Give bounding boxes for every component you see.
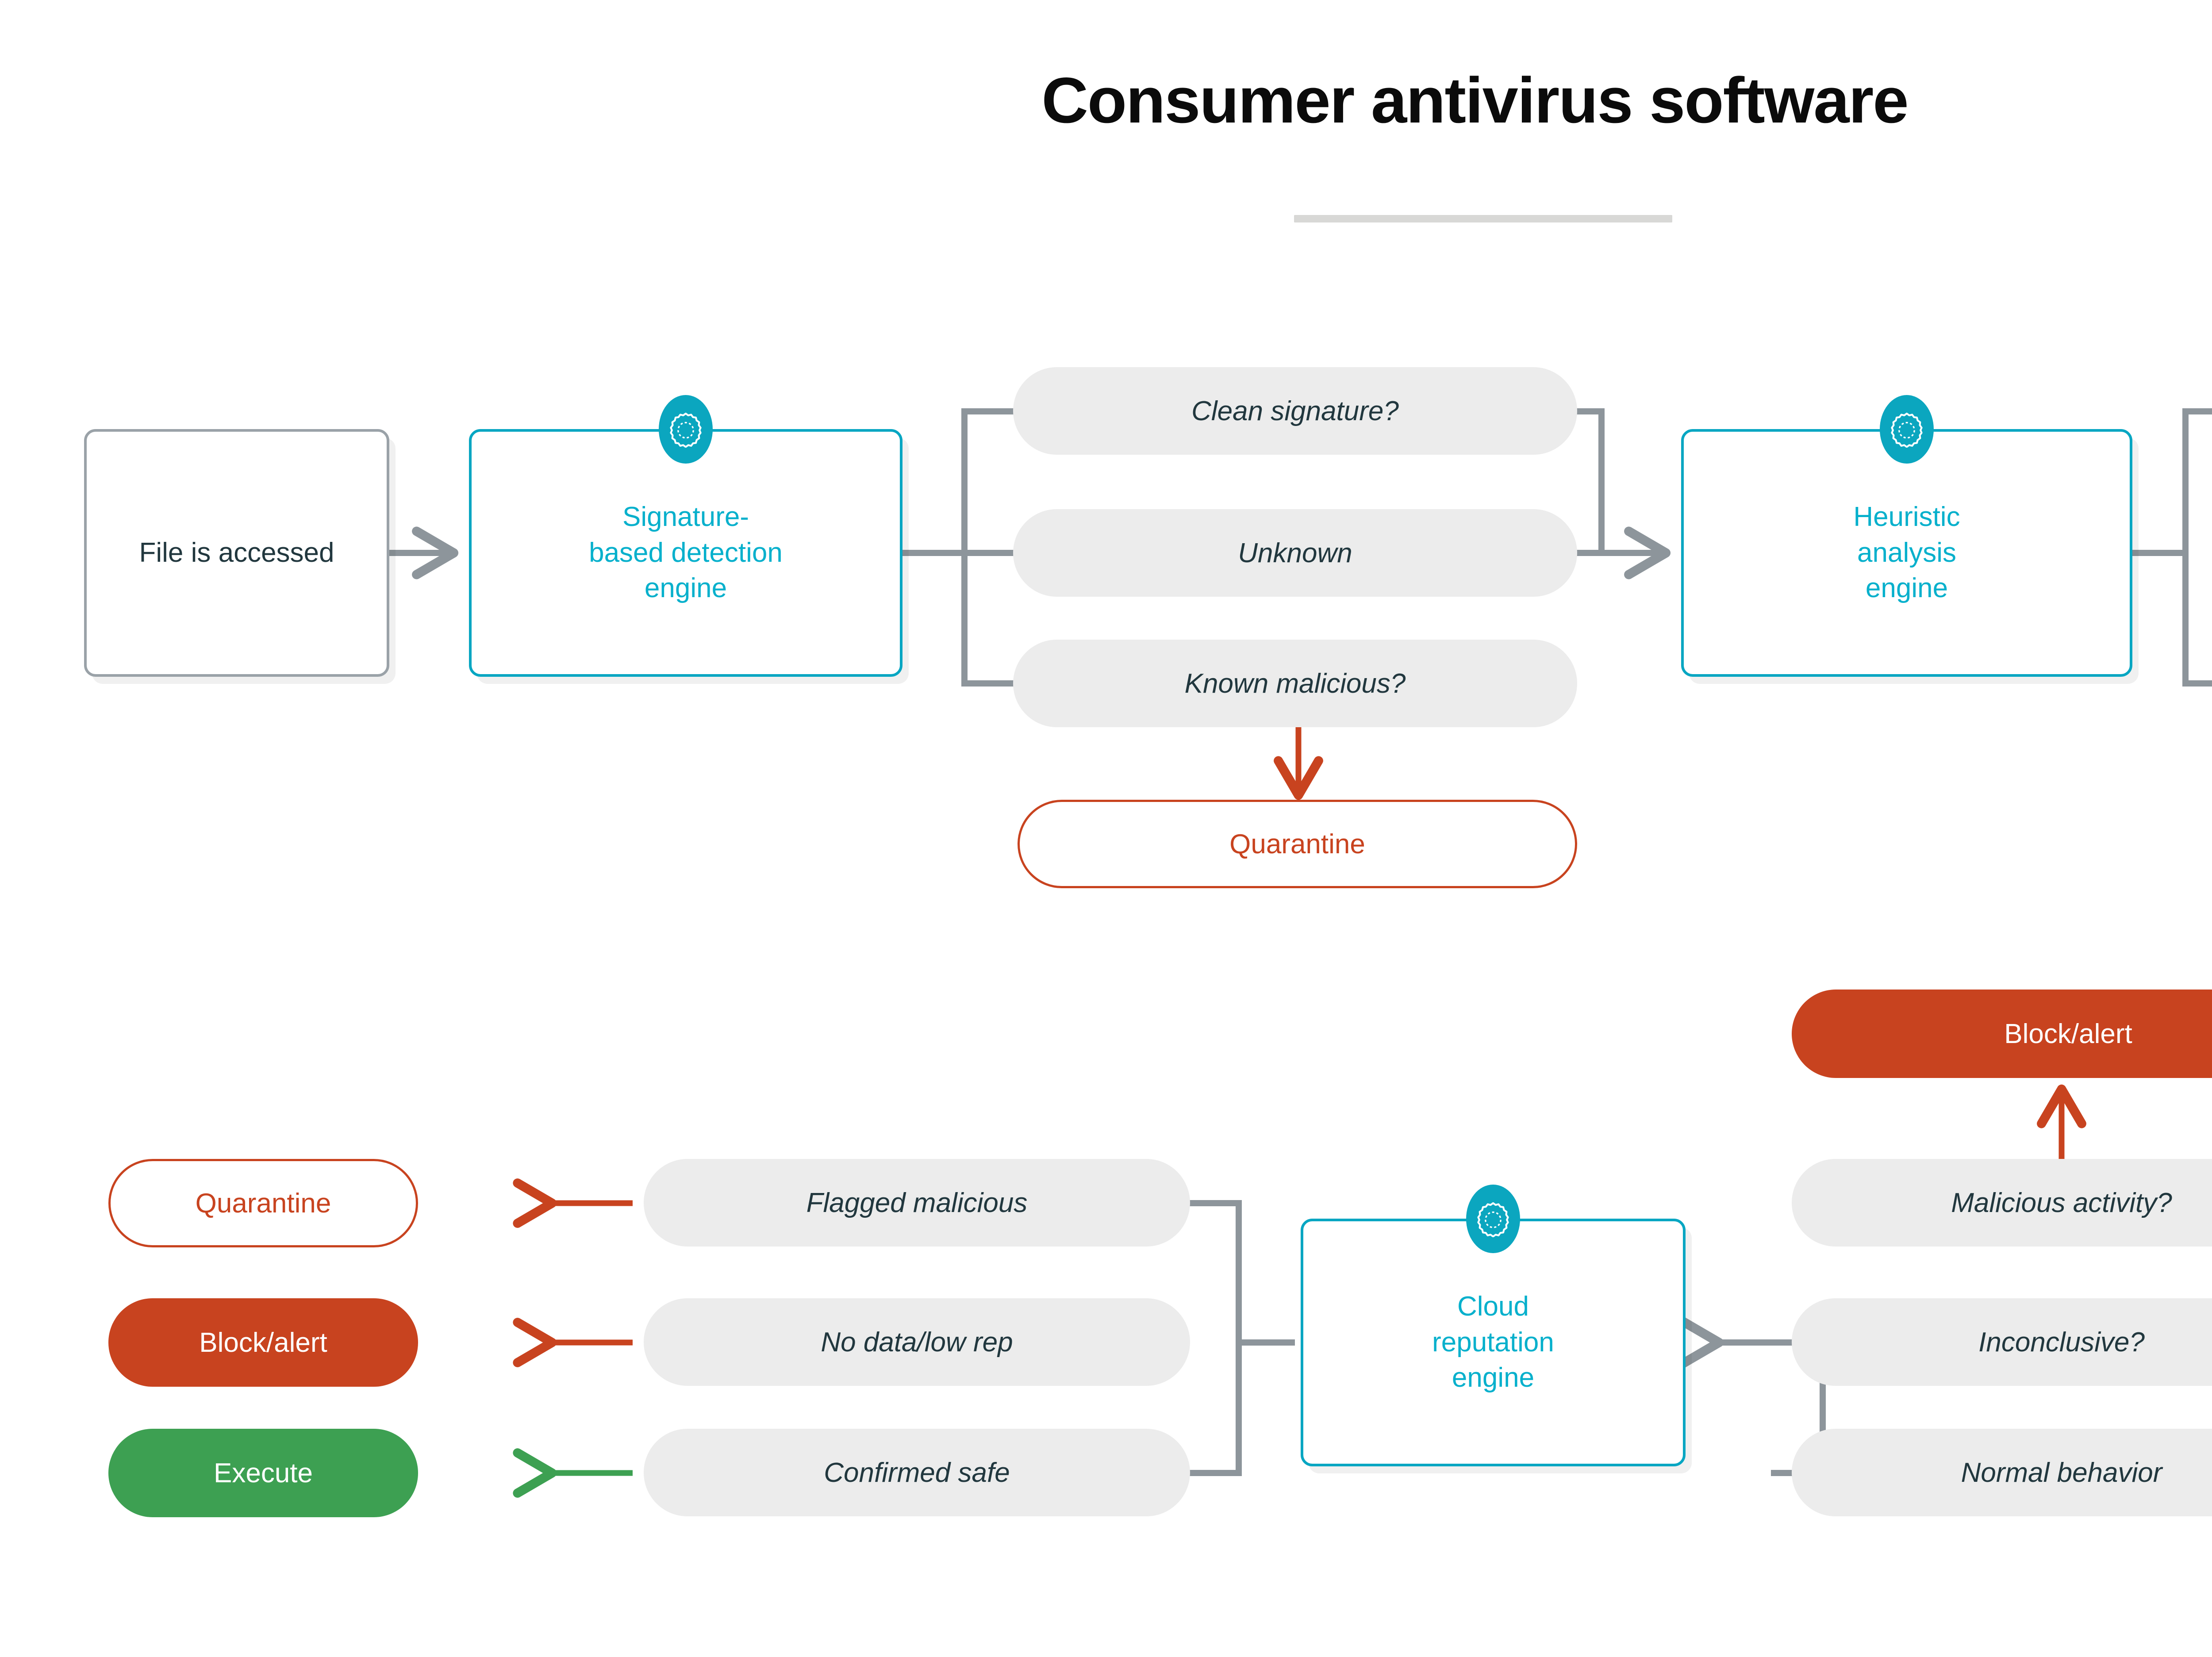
engine-label-line2: reputation [1432,1325,1554,1361]
outcome-block-alert-behavior[interactable]: Block/alert [1792,990,2212,1078]
pill-label: Execute [214,1458,313,1489]
diagram-canvas: Consumer antivirus software [0,0,2212,1657]
pill-flagged-malicious[interactable]: Flagged malicious [644,1159,1190,1247]
gear-icon [1466,1185,1520,1253]
gear-icon [659,395,713,464]
pill-label: Block/alert [2004,1018,2132,1050]
pill-label: No data/low rep [821,1327,1013,1358]
engine-label-line3: engine [1866,571,1948,606]
engine-label-line1: Cloud [1457,1289,1529,1325]
pill-confirmed-safe[interactable]: Confirmed safe [644,1429,1190,1516]
pill-clean-signature[interactable]: Clean signature? [1013,367,1577,455]
node-file-is-accessed[interactable]: File is accessed [84,429,389,677]
pill-label: Normal behavior [1961,1457,2162,1488]
pill-label: Quarantine [196,1188,331,1219]
pill-label: Block/alert [199,1327,327,1358]
engine-label-line3: engine [1452,1360,1534,1396]
engine-label-line1: Signature- [622,499,749,535]
title-underline [1294,215,1672,222]
engine-label-line2: analysis [1857,535,1956,571]
pill-known-malicious[interactable]: Known malicious? [1013,640,1577,727]
outcome-quarantine-cloud[interactable]: Quarantine [108,1159,418,1247]
pill-label: Malicious activity? [1951,1187,2172,1219]
pill-label: Unknown [1238,537,1352,569]
outcome-quarantine-signature[interactable]: Quarantine [1018,800,1577,888]
node-heuristic-analysis-engine[interactable]: Heuristic analysis engine [1681,429,2132,677]
pill-malicious-activity[interactable]: Malicious activity? [1792,1159,2212,1247]
pill-label: Inconclusive? [1978,1327,2145,1358]
node-label: File is accessed [139,535,334,571]
outcome-block-alert-cloud[interactable]: Block/alert [108,1298,418,1387]
pill-unknown[interactable]: Unknown [1013,509,1577,597]
engine-label-line3: engine [645,571,727,606]
engine-label-line2: based detection [589,535,783,571]
node-signature-based-detection-engine[interactable]: Signature- based detection engine [469,429,902,677]
pill-label: Quarantine [1229,828,1365,860]
page-title: Consumer antivirus software [0,66,2212,134]
pill-label: Known malicious? [1185,668,1406,699]
pill-inconclusive[interactable]: Inconclusive? [1792,1298,2212,1386]
gear-icon [1880,395,1934,464]
pill-no-data-low-rep[interactable]: No data/low rep [644,1298,1190,1386]
pill-label: Flagged malicious [806,1187,1028,1219]
engine-label-line1: Heuristic [1853,499,1960,535]
pill-label: Confirmed safe [824,1457,1010,1488]
pill-label: Clean signature? [1191,395,1399,427]
pill-normal-behavior[interactable]: Normal behavior [1792,1429,2212,1516]
node-cloud-reputation-engine[interactable]: Cloud reputation engine [1301,1219,1686,1466]
outcome-execute-cloud[interactable]: Execute [108,1429,418,1517]
